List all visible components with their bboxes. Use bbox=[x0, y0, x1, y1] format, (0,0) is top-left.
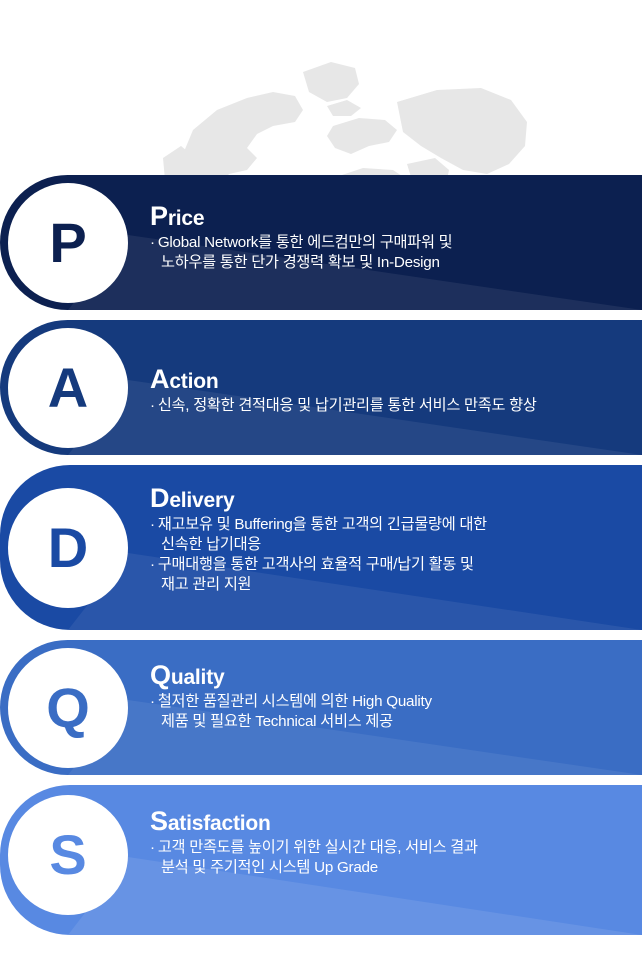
bullet-text: 신속, 정확한 견적대응 및 납기관리를 통한 서비스 만족도 향상 bbox=[158, 397, 537, 414]
row-quality-heading: Quality bbox=[150, 662, 432, 690]
row-action-text: Action ·신속, 정확한 견적대응 및 납기관리를 통한 서비스 만족도 … bbox=[150, 366, 537, 416]
row-price-heading-rest: rice bbox=[168, 207, 205, 230]
bullet-text: 재고보유 및 Buffering을 통한 고객의 긴급물량에 대한 bbox=[158, 516, 487, 533]
row-delivery-text: Delivery ·재고보유 및 Buffering을 통한 고객의 긴급물량에… bbox=[150, 485, 487, 595]
badge-letter-quality: Q bbox=[46, 680, 90, 736]
badge-circle-action[interactable]: A bbox=[8, 328, 128, 448]
row-satisfaction-text: Satisfaction ·고객 만족도를 높이기 위한 실시간 대응, 서비스… bbox=[150, 808, 478, 878]
row-satisfaction-heading-capital: S bbox=[150, 806, 168, 836]
row-satisfaction-bullet-1-line-1: ·고객 만족도를 높이기 위한 실시간 대응, 서비스 결과 bbox=[150, 838, 478, 858]
row-delivery-heading: Delivery bbox=[150, 485, 487, 513]
bullet-dot-icon: · bbox=[150, 839, 155, 856]
bullet-dot-icon: · bbox=[150, 556, 155, 573]
bullet-dot-icon: · bbox=[150, 234, 155, 251]
row-price-text: Price ·Global Network를 통한 에드컴만의 구매파워 및 노… bbox=[150, 203, 452, 273]
row-satisfaction-bullet-1-line-2: 분석 및 주기적인 시스템 Up Grade bbox=[150, 858, 478, 878]
badge-circle-delivery[interactable]: D bbox=[8, 488, 128, 608]
bullet-dot-icon: · bbox=[150, 516, 155, 533]
row-price-bullet-1-line-2: 노하우를 통한 단가 경쟁력 확보 및 In-Design bbox=[150, 253, 452, 273]
row-satisfaction-heading: Satisfaction bbox=[150, 808, 478, 836]
row-delivery-bullet-1-line-1: ·재고보유 및 Buffering을 통한 고객의 긴급물량에 대한 bbox=[150, 515, 487, 535]
row-delivery-bullet-2-line-1: ·구매대행을 통한 고객사의 효율적 구매/납기 활동 및 bbox=[150, 555, 487, 575]
badge-circle-price[interactable]: P bbox=[8, 183, 128, 303]
bullet-dot-icon: · bbox=[150, 397, 155, 414]
row-quality-bullet-1-line-2: 제품 및 필요한 Technical 서비스 제공 bbox=[150, 712, 432, 732]
row-delivery-bullet-1-line-2: 신속한 납기대응 bbox=[150, 535, 487, 555]
bullet-dot-icon: · bbox=[150, 693, 155, 710]
badge-letter-action: A bbox=[48, 360, 88, 416]
bullet-text: 구매대행을 통한 고객사의 효율적 구매/납기 활동 및 bbox=[158, 556, 474, 573]
paqds-value-list: P Price ·Global Network를 통한 에드컴만의 구매파워 및… bbox=[0, 0, 642, 966]
row-delivery-heading-rest: elivery bbox=[169, 489, 234, 512]
badge-circle-quality[interactable]: Q bbox=[8, 648, 128, 768]
row-price-heading-capital: P bbox=[150, 201, 168, 231]
badge-letter-satisfaction: S bbox=[49, 827, 86, 883]
row-quality-bullet-1-line-1: ·철저한 품질관리 시스템에 의한 High Quality bbox=[150, 692, 432, 712]
row-action-bullet-1-line-1: ·신속, 정확한 견적대응 및 납기관리를 통한 서비스 만족도 향상 bbox=[150, 396, 537, 416]
bullet-text: 고객 만족도를 높이기 위한 실시간 대응, 서비스 결과 bbox=[158, 839, 478, 856]
row-price-heading: Price bbox=[150, 203, 452, 231]
row-delivery-heading-capital: D bbox=[150, 483, 169, 513]
bullet-text: 철저한 품질관리 시스템에 의한 High Quality bbox=[158, 693, 432, 710]
row-delivery-bullet-2-line-2: 재고 관리 지원 bbox=[150, 575, 487, 595]
badge-letter-delivery: D bbox=[48, 520, 88, 576]
row-quality-text: Quality ·철저한 품질관리 시스템에 의한 High Quality 제… bbox=[150, 662, 432, 732]
row-price-bullet-1-line-1: ·Global Network를 통한 에드컴만의 구매파워 및 bbox=[150, 233, 452, 253]
row-satisfaction-heading-rest: atisfaction bbox=[168, 812, 271, 835]
badge-circle-satisfaction[interactable]: S bbox=[8, 795, 128, 915]
bullet-text: Global Network를 통한 에드컴만의 구매파워 및 bbox=[158, 234, 453, 251]
row-action-heading-capital: A bbox=[150, 364, 169, 394]
row-action-heading: Action bbox=[150, 366, 537, 394]
row-quality-heading-capital: Q bbox=[150, 660, 171, 690]
row-action-heading-rest: ction bbox=[169, 370, 218, 393]
row-quality-heading-rest: uality bbox=[171, 666, 225, 689]
badge-letter-price: P bbox=[49, 215, 86, 271]
